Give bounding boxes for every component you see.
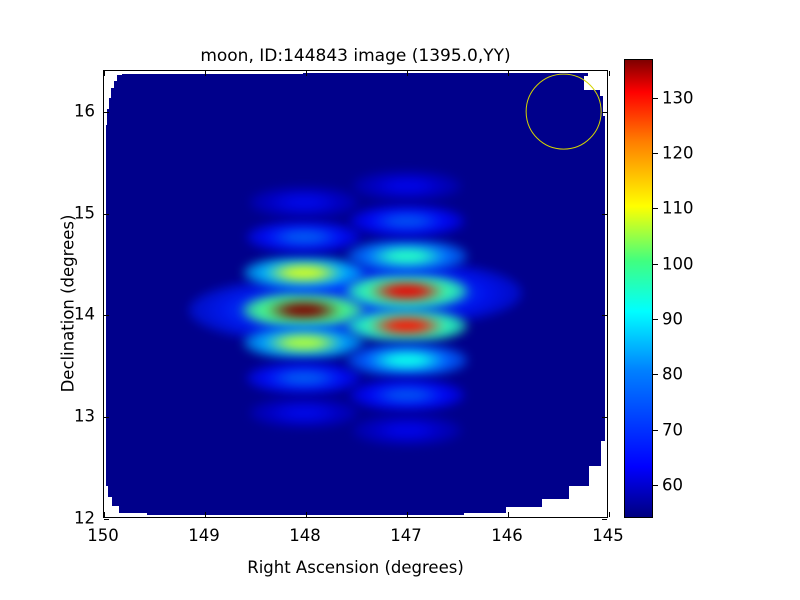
y-tick-label: 12 bbox=[57, 509, 95, 528]
colorbar-tick bbox=[653, 98, 658, 99]
footprint-cut bbox=[542, 499, 570, 517]
y-tick bbox=[602, 112, 607, 113]
y-tick bbox=[104, 519, 109, 520]
y-tick bbox=[104, 214, 109, 215]
x-tick-label: 149 bbox=[188, 526, 220, 545]
y-axis-label: Declination (degrees) bbox=[59, 174, 78, 434]
x-tick bbox=[205, 71, 206, 76]
y-tick bbox=[104, 112, 109, 113]
footprint-cut bbox=[601, 441, 607, 517]
colorbar-tick-label: 110 bbox=[662, 199, 694, 218]
y-tick bbox=[104, 417, 109, 418]
y-tick-label: 16 bbox=[57, 101, 95, 120]
x-tick-label: 145 bbox=[592, 526, 624, 545]
colorbar-tick bbox=[653, 319, 658, 320]
colorbar[interactable]: 60708090100110120130 bbox=[624, 59, 653, 518]
colorbar-tick bbox=[653, 208, 658, 209]
y-tick bbox=[602, 214, 607, 215]
x-tick bbox=[407, 512, 408, 517]
sky-image-axes[interactable] bbox=[103, 70, 608, 518]
x-tick-label: 146 bbox=[491, 526, 523, 545]
x-tick bbox=[407, 71, 408, 76]
image-clip bbox=[104, 71, 607, 517]
figure-canvas: moon, ID:144843 image (1395.0,YY) 150149… bbox=[0, 0, 800, 600]
colorbar-gradient bbox=[624, 59, 653, 518]
footprint-cut bbox=[104, 71, 106, 517]
x-tick bbox=[205, 512, 206, 517]
colorbar-tick bbox=[653, 153, 658, 154]
x-tick bbox=[306, 71, 307, 76]
x-tick bbox=[508, 512, 509, 517]
colorbar-tick-label: 80 bbox=[662, 365, 683, 384]
x-tick-label: 148 bbox=[289, 526, 321, 545]
colorbar-tick-label: 100 bbox=[662, 254, 694, 273]
colorbar-tick bbox=[653, 485, 658, 486]
y-tick bbox=[104, 315, 109, 316]
footprint-cut bbox=[122, 71, 303, 74]
x-tick bbox=[104, 71, 105, 76]
colorbar-tick-label: 70 bbox=[662, 420, 683, 439]
footprint-cut bbox=[464, 513, 507, 517]
moon-disk-circle-icon bbox=[525, 73, 602, 150]
x-tick bbox=[306, 512, 307, 517]
x-axis-label: Right Ascension (degrees) bbox=[103, 558, 608, 577]
footprint-cut bbox=[569, 486, 589, 517]
colorbar-tick bbox=[653, 430, 658, 431]
x-tick-label: 150 bbox=[87, 526, 119, 545]
x-tick bbox=[609, 512, 610, 517]
colorbar-tick-label: 90 bbox=[662, 309, 683, 328]
colorbar-tick-label: 130 bbox=[662, 88, 694, 107]
y-tick bbox=[602, 315, 607, 316]
page-title: moon, ID:144843 image (1395.0,YY) bbox=[103, 46, 608, 66]
x-tick bbox=[609, 71, 610, 76]
x-tick bbox=[104, 512, 105, 517]
colorbar-tick-label: 120 bbox=[662, 144, 694, 163]
colorbar-tick bbox=[653, 264, 658, 265]
footprint-cut bbox=[506, 507, 541, 517]
footprint-cut bbox=[303, 71, 605, 73]
footprint-mask bbox=[104, 71, 607, 517]
y-tick bbox=[602, 519, 607, 520]
colorbar-tick bbox=[653, 374, 658, 375]
colorbar-tick-label: 60 bbox=[662, 475, 683, 494]
footprint-cut bbox=[119, 513, 147, 517]
x-tick bbox=[508, 71, 509, 76]
x-tick-label: 147 bbox=[390, 526, 422, 545]
y-tick bbox=[602, 417, 607, 418]
